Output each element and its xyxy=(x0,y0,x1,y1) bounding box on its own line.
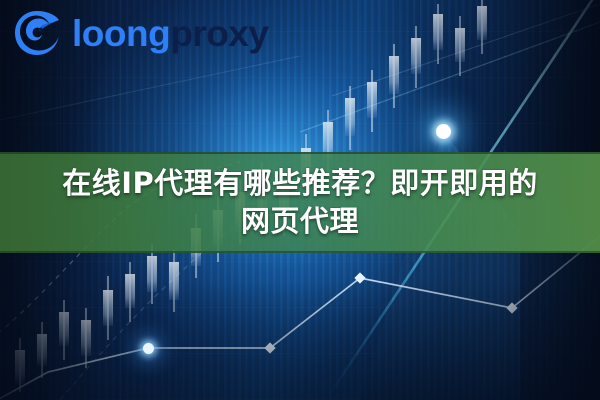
loong-dragon-swirl-icon xyxy=(12,8,62,58)
banner-image: loongproxy 在线IP代理有哪些推荐？即开即用的 网页代理 xyxy=(0,0,600,400)
brand-wordmark: loongproxy xyxy=(72,15,268,52)
headline-line-1: 在线IP代理有哪些推荐？即开即用的 xyxy=(20,165,580,203)
headline-title: 在线IP代理有哪些推荐？即开即用的 网页代理 xyxy=(20,165,580,240)
brand-word-primary: loong xyxy=(72,13,170,54)
headline-band: 在线IP代理有哪些推荐？即开即用的 网页代理 xyxy=(0,152,600,253)
headline-line-2: 网页代理 xyxy=(20,203,580,241)
brand-logo[interactable]: loongproxy xyxy=(12,8,268,58)
brand-word-secondary: proxy xyxy=(170,13,268,54)
